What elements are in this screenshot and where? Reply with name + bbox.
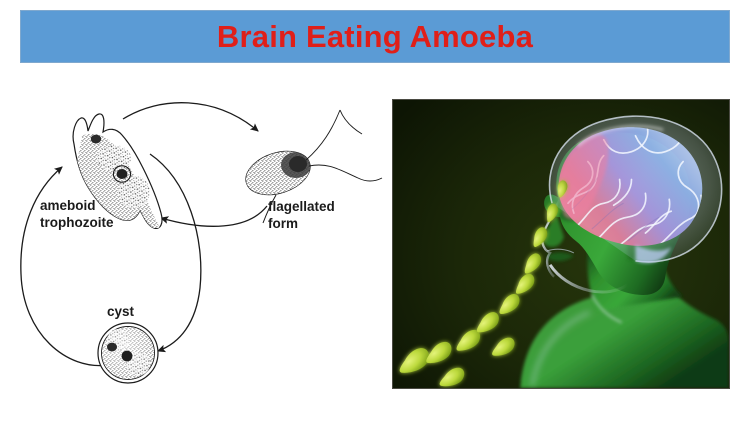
label-trophozoite-line1: ameboid bbox=[40, 198, 96, 213]
cyst-dark-body bbox=[107, 343, 117, 352]
page-title: Brain Eating Amoeba bbox=[217, 21, 533, 52]
infection-illustration bbox=[392, 99, 730, 389]
flagellum-upper bbox=[306, 110, 340, 160]
label-flagellated-line2: form bbox=[268, 216, 298, 231]
cyst-nucleus bbox=[122, 351, 133, 362]
label-flagellated-line1: flagellated bbox=[268, 199, 335, 214]
flagellum-upper-tail bbox=[340, 110, 362, 134]
title-banner: Brain Eating Amoeba bbox=[20, 10, 730, 63]
lifecycle-diagram: ameboid trophozoite flagellated form bbox=[10, 88, 385, 413]
flagellate-nucleus bbox=[289, 156, 307, 172]
stage-cyst bbox=[98, 323, 158, 383]
arrow-trophozoite-to-cyst bbox=[150, 154, 201, 351]
arrow-trophozoite-to-flagellated bbox=[123, 103, 258, 131]
label-trophozoite-line2: trophozoite bbox=[40, 215, 114, 230]
stage-flagellated bbox=[240, 110, 382, 202]
trophozoite-nucleus bbox=[117, 169, 128, 179]
arrow-flagellated-to-trophozoite bbox=[161, 206, 267, 226]
flagellum-lower bbox=[309, 165, 382, 181]
label-cyst: cyst bbox=[107, 304, 135, 319]
trophozoite-nucleolus bbox=[91, 135, 101, 144]
